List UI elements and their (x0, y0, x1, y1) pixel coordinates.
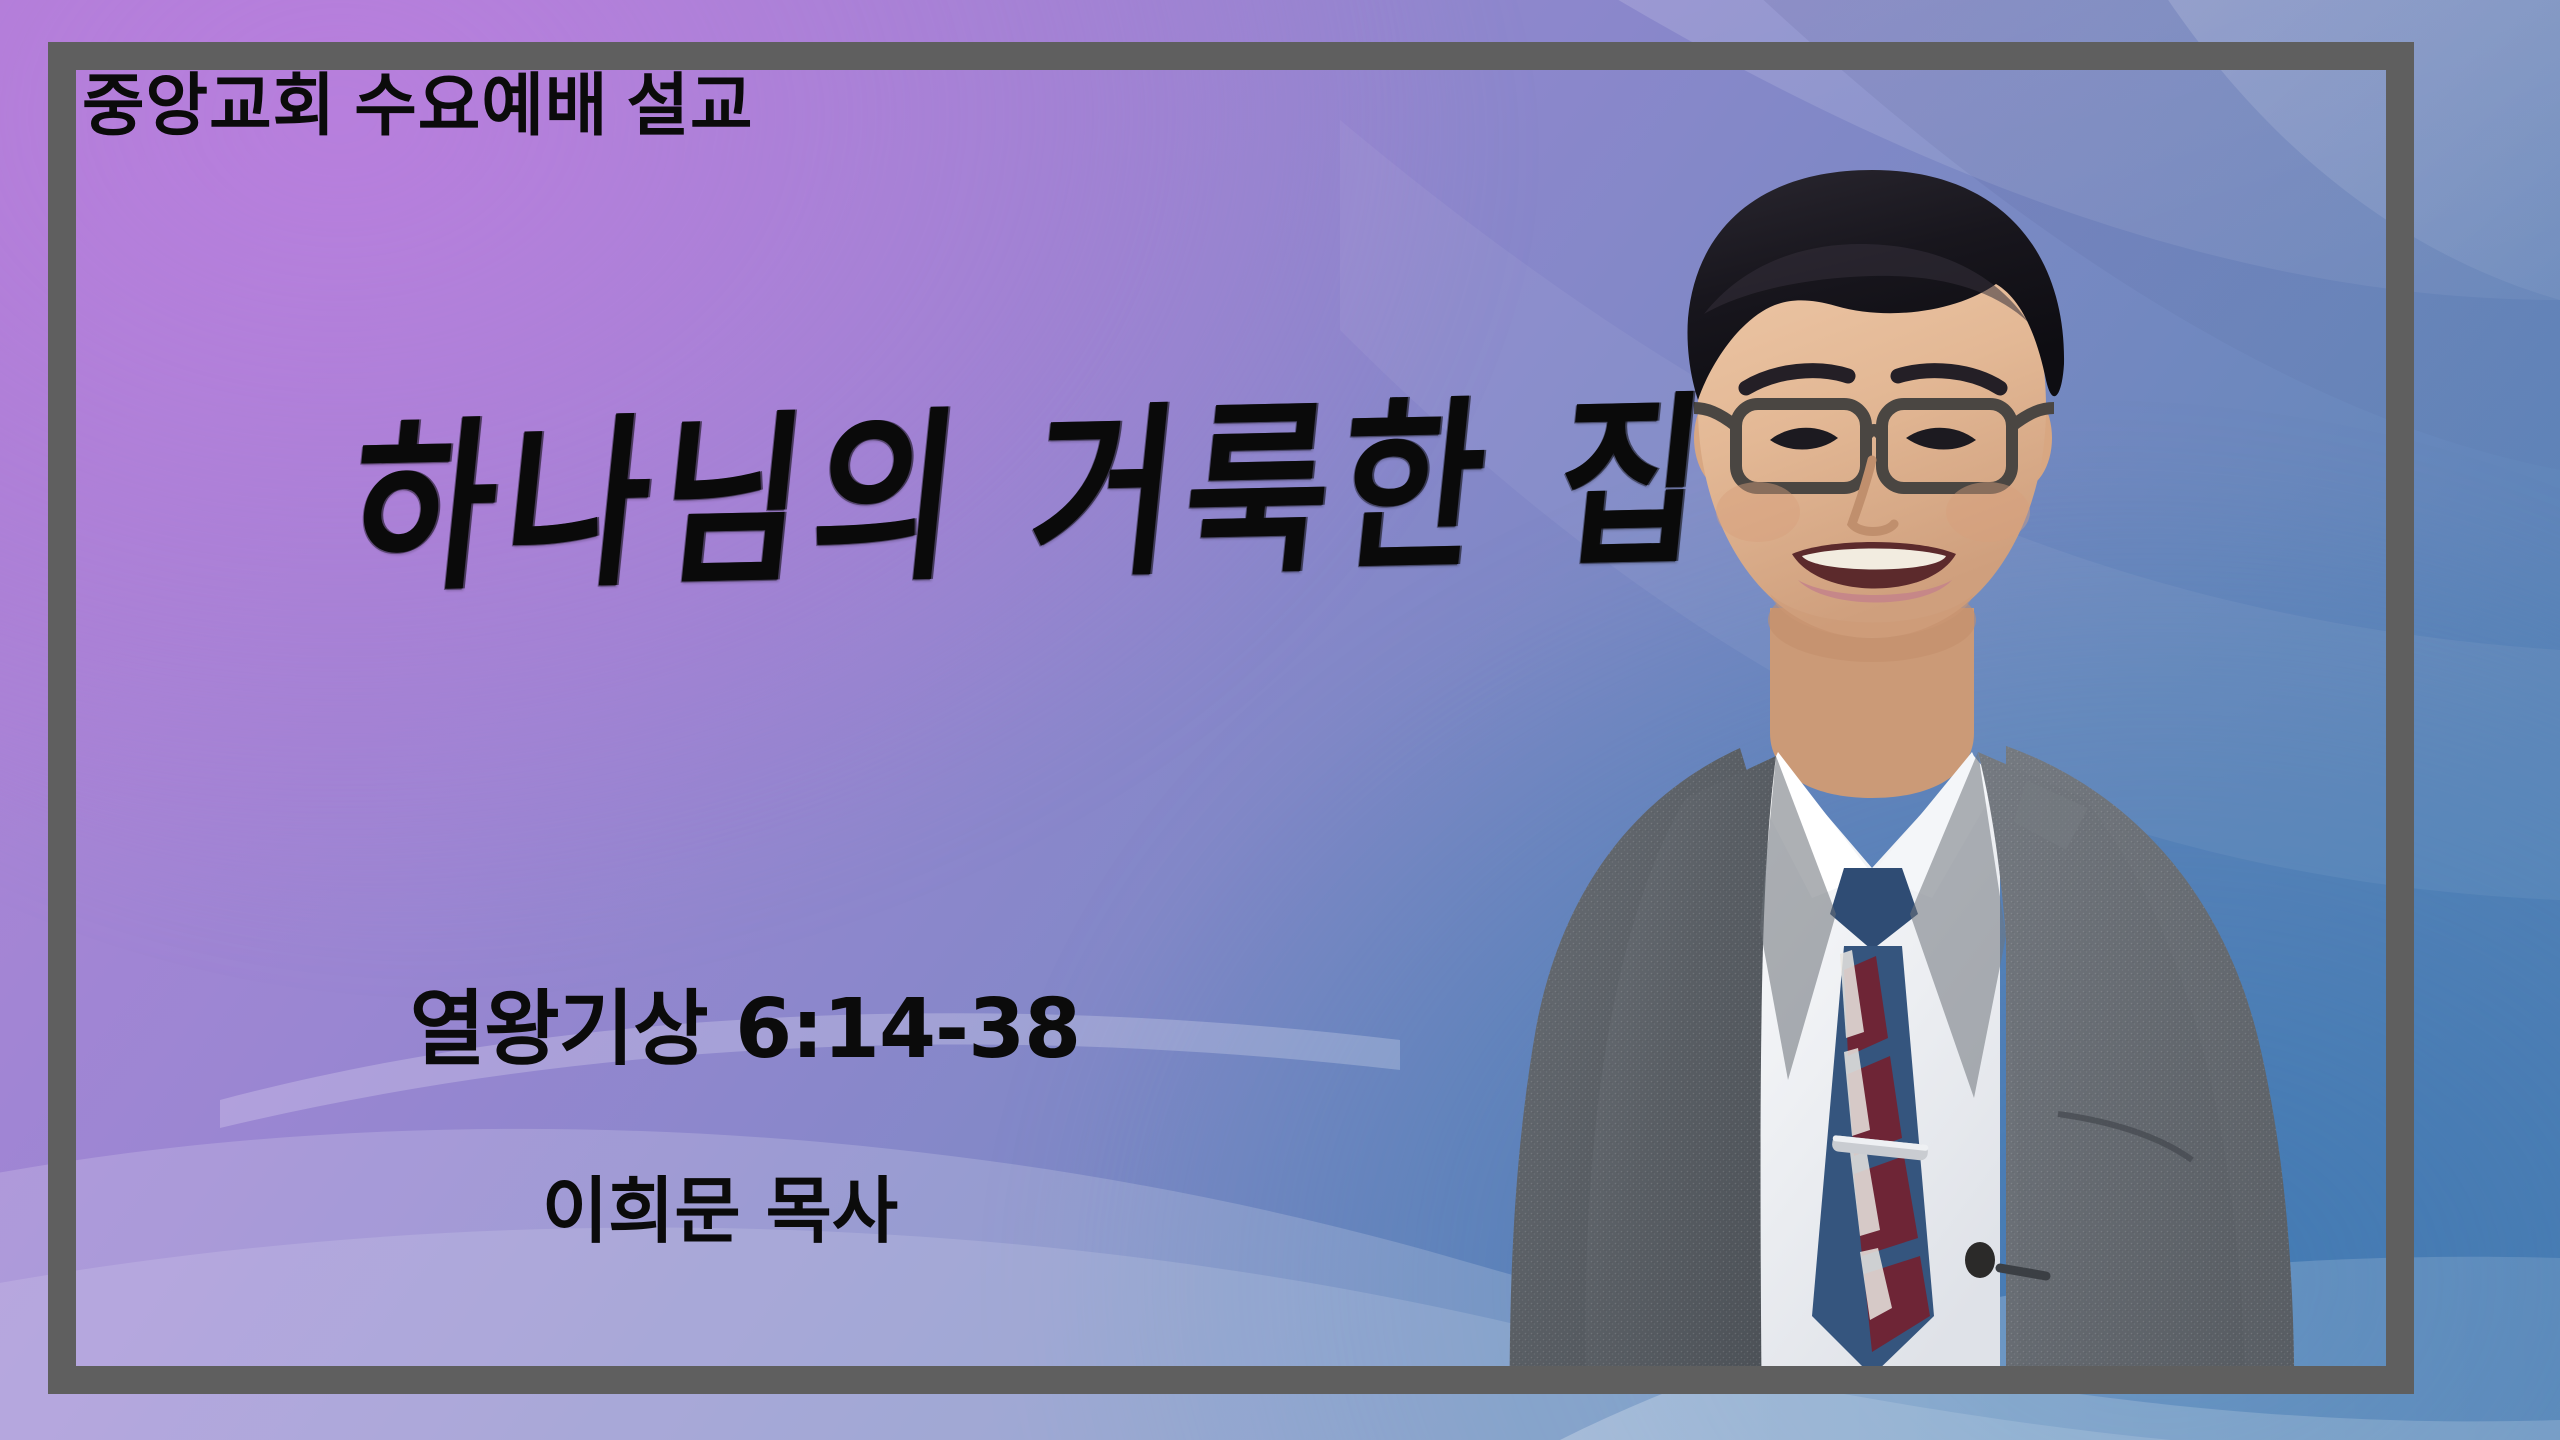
sermon-title: 하나님의 거룩한 집 (343, 390, 1722, 602)
scripture-reference: 열왕기상 6:14-38 (0, 962, 1490, 1081)
sermon-title-slide: 중앙교회 수요예배 설교 하나님의 거룩한 집 열왕기상 6:14-38 이희문… (0, 0, 2560, 1440)
speaker-name: 이희문 목사 (0, 1152, 1440, 1257)
slide-header-label: 중앙교회 수요예배 설교 (82, 50, 754, 149)
